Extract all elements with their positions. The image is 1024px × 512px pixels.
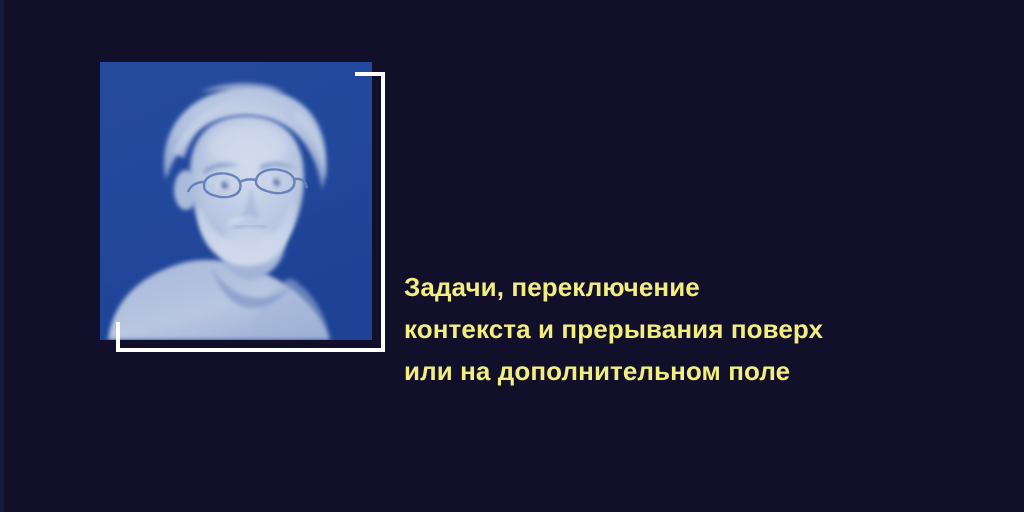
left-edge-stripe [0,0,4,512]
portrait-block [100,62,388,354]
frame-corner-top-right [355,72,385,76]
portrait-frame-outline [116,72,385,352]
frame-corner-bottom-left [116,322,120,352]
slide-canvas: Задачи, переключение контекста и прерыва… [0,0,1024,512]
headline-text: Задачи, переключение контекста и прерыва… [404,266,1004,392]
